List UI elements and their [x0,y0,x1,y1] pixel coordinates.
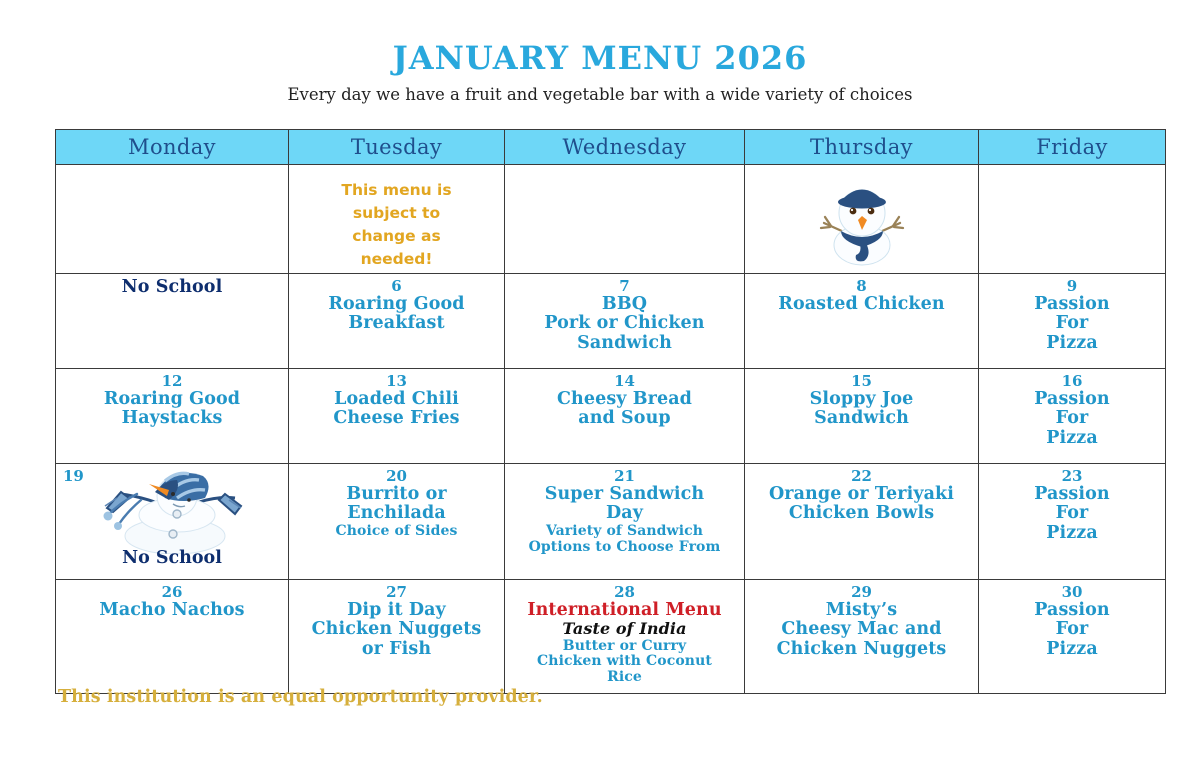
menu-item: Haystacks [59,409,285,429]
cell-week0-monday [56,165,289,274]
menu-item: Passion [982,485,1162,505]
column-header-monday: Monday [56,130,289,165]
day-number: 13 [292,373,501,390]
calendar-row-week0: This menu is subject to change as needed… [56,165,1166,274]
calendar-row-week1: No School 6 Roaring Good Breakfast 7 [56,273,1166,368]
menu-item: For [982,620,1162,640]
menu-change-notice: This menu is subject to change as needed… [292,169,501,271]
menu-item-detail: Variety of Sandwich [508,524,741,540]
day-number: 14 [508,373,741,390]
cell-week4-thursday: 29 Misty’s Cheesy Mac and Chicken Nugget… [745,579,979,693]
menu-page: JANUARY MENU 2026 Every day we have a fr… [0,0,1200,771]
menu-item: Cheese Fries [292,409,501,429]
cell-week1-thursday: 8 Roasted Chicken [745,273,979,368]
menu-item: Roaring Good [59,390,285,410]
day-number: 9 [982,278,1162,295]
menu-item: Chicken Bowls [748,504,975,524]
column-header-friday: Friday [979,130,1166,165]
day-number: 23 [982,468,1162,485]
cell-week2-wednesday: 14 Cheesy Bread and Soup [505,368,745,463]
international-menu-label: International Menu [508,601,741,621]
column-header-tuesday: Tuesday [289,130,505,165]
cell-week0-tuesday: This menu is subject to change as needed… [289,165,505,274]
page-subtitle: Every day we have a fruit and vegetable … [0,74,1200,104]
cell-week1-friday: 9 Passion For Pizza [979,273,1166,368]
cell-week1-wednesday: 7 BBQ Pork or Chicken Sandwich [505,273,745,368]
menu-item: Dip it Day [292,601,501,621]
menu-item-detail: Butter or Curry [508,639,741,655]
cell-week2-tuesday: 13 Loaded Chili Cheese Fries [289,368,505,463]
day-number: 12 [59,373,285,390]
day-number: 29 [748,584,975,601]
snowman-standing-icon [748,169,975,267]
calendar-row-week2: 12 Roaring Good Haystacks 13 Loaded Chil… [56,368,1166,463]
menu-item: Day [508,504,741,524]
notice-line-2: subject to [292,202,501,225]
cell-week4-friday: 30 Passion For Pizza [979,579,1166,693]
cuisine-name: Taste of India [508,620,741,638]
equal-opportunity-statement: This institution is an equal opportunity… [58,687,543,707]
notice-line-3: change as [292,225,501,248]
menu-item: Burrito or [292,485,501,505]
cell-week1-monday: No School [56,273,289,368]
cell-week1-tuesday: 6 Roaring Good Breakfast [289,273,505,368]
calendar-container: Monday Tuesday Wednesday Thursday Friday [55,129,1165,694]
cell-week2-monday: 12 Roaring Good Haystacks [56,368,289,463]
menu-item: Misty’s [748,601,975,621]
cell-week0-friday [979,165,1166,274]
day-number: 27 [292,584,501,601]
calendar-row-week3: 19 [56,463,1166,579]
menu-item: For [982,504,1162,524]
cell-week4-wednesday: 28 International Menu Taste of India But… [505,579,745,693]
column-header-thursday: Thursday [745,130,979,165]
menu-item: Loaded Chili [292,390,501,410]
cell-week3-monday: 19 [56,463,289,579]
menu-item: No School [59,278,285,298]
cell-week3-wednesday: 21 Super Sandwich Day Variety of Sandwic… [505,463,745,579]
menu-item: Pizza [982,429,1162,449]
menu-item: Pizza [982,640,1162,660]
day-number: 26 [59,584,285,601]
menu-item: Chicken Nuggets [292,620,501,640]
menu-item-detail: Rice [508,670,741,686]
cell-week0-thursday [745,165,979,274]
day-number: 6 [292,278,501,295]
cell-week3-tuesday: 20 Burrito or Enchilada Choice of Sides [289,463,505,579]
menu-item-detail: Chicken with Coconut [508,654,741,670]
day-number: 8 [748,278,975,295]
calendar-header-row: Monday Tuesday Wednesday Thursday Friday [56,130,1166,165]
menu-item: Enchilada [292,504,501,524]
day-number: 15 [748,373,975,390]
menu-item: and Soup [508,409,741,429]
menu-item-detail: Choice of Sides [292,524,501,540]
menu-item: Cheesy Bread [508,390,741,410]
cell-week2-friday: 16 Passion For Pizza [979,368,1166,463]
menu-item: Macho Nachos [59,601,285,621]
menu-item: Sandwich [748,409,975,429]
column-header-wednesday: Wednesday [505,130,745,165]
menu-item: Breakfast [292,314,501,334]
menu-item: or Fish [292,640,501,660]
notice-line-4: needed! [292,248,501,271]
menu-item: Roaring Good [292,295,501,315]
menu-item: BBQ [508,295,741,315]
day-number: 16 [982,373,1162,390]
day-number: 19 [63,468,84,485]
day-number: 20 [292,468,501,485]
menu-item: Passion [982,390,1162,410]
cell-week0-wednesday [505,165,745,274]
menu-item: Super Sandwich [508,485,741,505]
menu-item: Sandwich [508,334,741,354]
day-number: 7 [508,278,741,295]
cell-week2-thursday: 15 Sloppy Joe Sandwich [745,368,979,463]
menu-item: Passion [982,295,1162,315]
day-number: 22 [748,468,975,485]
menu-calendar-table: Monday Tuesday Wednesday Thursday Friday [55,129,1166,694]
day-number: 28 [508,584,741,601]
cell-week3-thursday: 22 Orange or Teriyaki Chicken Bowls [745,463,979,579]
menu-item: Passion [982,601,1162,621]
menu-item: Pizza [982,524,1162,544]
cell-week4-tuesday: 27 Dip it Day Chicken Nuggets or Fish [289,579,505,693]
menu-item-detail: Options to Choose From [508,540,741,556]
menu-item: Roasted Chicken [748,295,975,315]
page-title: JANUARY MENU 2026 [0,0,1200,74]
day-number: 21 [508,468,741,485]
menu-item: For [982,409,1162,429]
menu-item: Cheesy Mac and [748,620,975,640]
cell-week3-friday: 23 Passion For Pizza [979,463,1166,579]
menu-item: Pizza [982,334,1162,354]
menu-item: Sloppy Joe [748,390,975,410]
menu-item: No School [59,550,285,568]
menu-item: Pork or Chicken [508,314,741,334]
snowman-lying-icon [59,468,285,554]
day-number: 30 [982,584,1162,601]
calendar-row-week4: 26 Macho Nachos 27 Dip it Day Chicken Nu… [56,579,1166,693]
cell-week4-monday: 26 Macho Nachos [56,579,289,693]
menu-item: For [982,314,1162,334]
menu-item: Chicken Nuggets [748,640,975,660]
notice-line-1: This menu is [292,179,501,202]
menu-item: Orange or Teriyaki [748,485,975,505]
